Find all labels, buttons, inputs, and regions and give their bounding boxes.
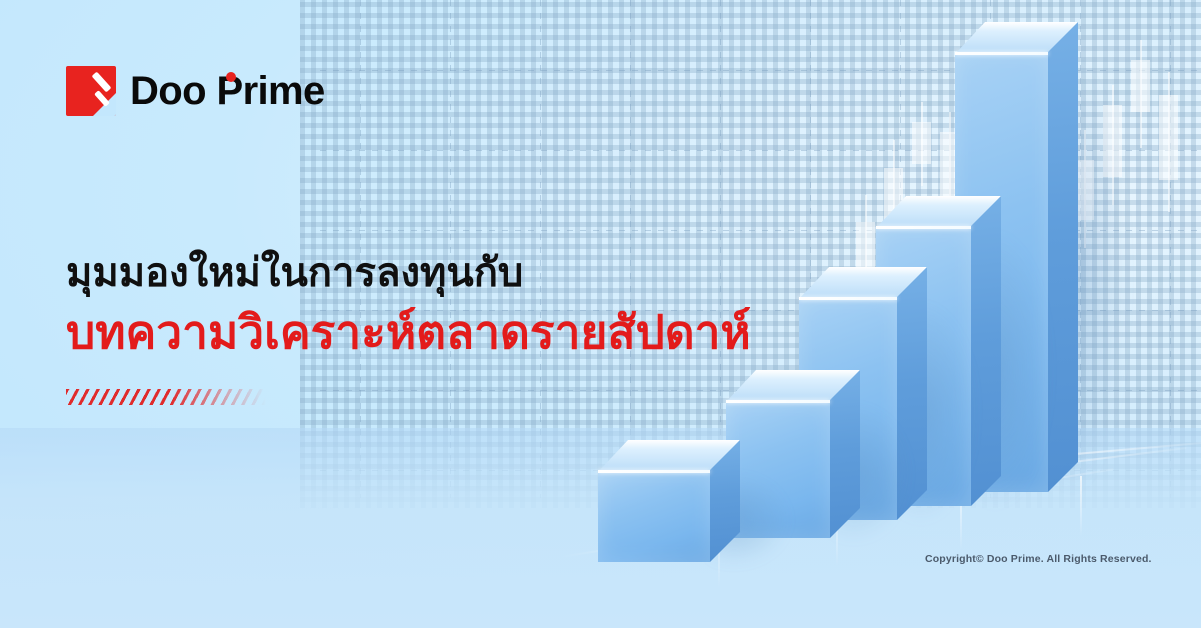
bar-side-face [897, 267, 927, 520]
bar-side-face [1048, 22, 1078, 492]
red-diagonal-hatch-bar [66, 389, 266, 405]
bar-top-highlight [876, 226, 971, 229]
doo-prime-logo-mark [66, 66, 116, 116]
bar-top-highlight [955, 52, 1048, 55]
bar-side-face [971, 196, 1001, 506]
logo-slash-upper [92, 71, 112, 92]
logo-dot-accent [226, 72, 236, 82]
bar-2 [726, 370, 860, 538]
headline-line-2: บทความวิเคราะห์ตลาดรายสัปดาห์ [66, 303, 751, 362]
bar-front-face [726, 400, 830, 538]
headline-line-1: มุมมองใหม่ในการลงทุนกับ [66, 248, 751, 299]
brand-name: Doo Prime [130, 69, 325, 114]
copyright-text: Copyright© Doo Prime. All Rights Reserve… [925, 553, 1152, 565]
bar-1 [598, 440, 740, 562]
headline-block: มุมมองใหม่ในการลงทุนกับ บทความวิเคราะห์ต… [66, 248, 751, 362]
brand-logo[interactable]: Doo Prime [66, 66, 325, 116]
bar-top-highlight [799, 297, 897, 300]
bar-top-highlight [726, 400, 830, 403]
bar-front-face [598, 470, 710, 562]
bar-top-highlight [598, 470, 710, 473]
brand-name-part-2: rime [243, 69, 325, 113]
doo-prime-marketing-banner: Doo Prime มุมมองใหม่ในการลงทุนกับ บทความ… [0, 0, 1201, 628]
